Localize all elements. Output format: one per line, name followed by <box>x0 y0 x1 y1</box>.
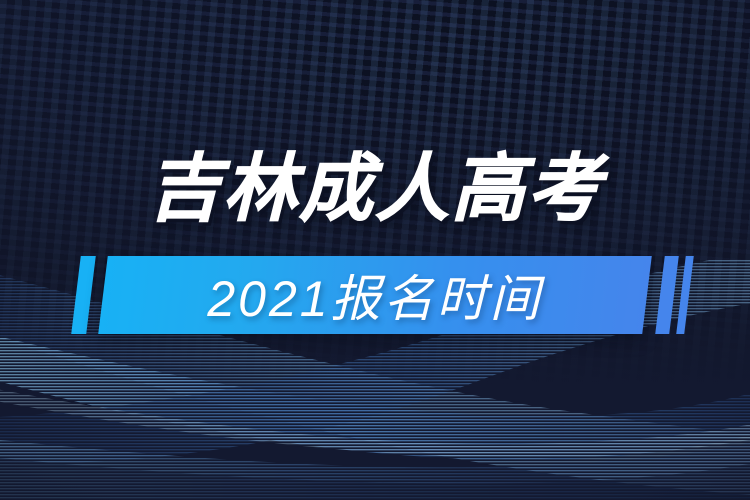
subtitle-text: 2021报名时间 <box>103 256 647 334</box>
accent-bar-right-inner <box>655 256 679 334</box>
page-title: 吉林成人高考 <box>0 148 750 230</box>
subtitle-banner: 2021报名时间 <box>0 256 750 340</box>
accent-bar-left <box>71 256 96 334</box>
poster-banner: 吉林成人高考 2021报名时间 <box>0 0 750 500</box>
accent-bar-right-outer <box>676 256 694 334</box>
